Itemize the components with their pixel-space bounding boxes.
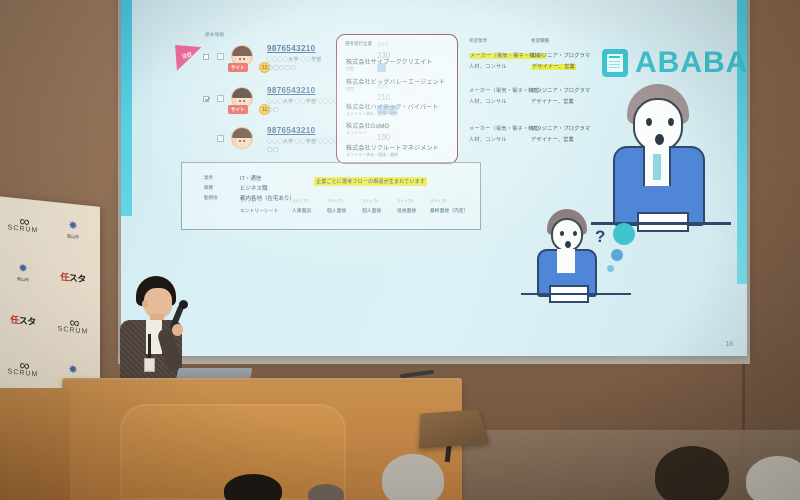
wall-right: [742, 0, 800, 470]
highlighted-company-box: 選考進行企業 株式会社サイブーククリエイト 内定 株式会社ビッグバレーエージェン…: [336, 34, 458, 164]
step-header: ステップ4: [362, 199, 378, 204]
role-line: エンジニア・プログラマ: [531, 52, 590, 59]
detail-label: 職種: [204, 185, 213, 191]
candidate-id[interactable]: 9876543210: [267, 126, 316, 135]
city-emblem-icon: ✸: [68, 218, 77, 232]
company-name: 株式会社ハイテック・バイパート: [346, 102, 439, 111]
audience-head: [224, 474, 282, 500]
id-badge: [144, 358, 155, 372]
question-mark-icon: ?: [595, 227, 605, 247]
company-status: エントリー済み・面接・最終: [346, 152, 398, 158]
thought-bubble-medium: [611, 249, 623, 261]
company-status: エントリー: [346, 130, 366, 136]
company-status: エントリー済み・面接・最終: [346, 111, 398, 117]
audience-head: [655, 446, 729, 500]
podium-side: [0, 388, 70, 500]
candidate-id[interactable]: 9876543210: [267, 86, 316, 95]
conference-room: になること 基本情報 サイト 12 9876543210 ◯◯◯◯大学 ◯◯学部…: [0, 0, 800, 500]
slide-edge-strip-left: [121, 0, 132, 216]
company-status: 内定: [346, 86, 354, 92]
scrum-label: SCRUM: [8, 368, 39, 378]
candidate-school: ◯◯◯大学 ◯◯学部 ◯◯◯◯: [267, 98, 339, 105]
projection-screen: になること 基本情報 サイト 12 9876543210 ◯◯◯◯大学 ◯◯学部…: [121, 0, 747, 356]
step-header: ステップ1: [240, 199, 256, 204]
logo-rings: ∞ SCRUM: [50, 304, 96, 347]
step-value: エントリーシート: [240, 207, 278, 214]
row-square-icon: [217, 95, 224, 102]
audience-head: [382, 454, 444, 500]
red-wordmark: 任スタ: [60, 269, 86, 285]
detail-label: 業界: [204, 175, 213, 181]
row-checkbox[interactable]: [203, 54, 209, 60]
scrum-label: SCRUM: [8, 224, 39, 234]
logo-city: ✸ 岡山市: [50, 208, 96, 251]
candidate-school: ◯◯◯◯大学 ◯◯学部: [267, 56, 322, 63]
step-value: 個人面接: [362, 207, 381, 214]
candidate-id[interactable]: 9876543210: [267, 44, 316, 53]
column-header-industry: 希望業界: [469, 38, 487, 44]
step-value: 人事面談: [292, 207, 311, 214]
role-line: デザイナー、営業: [531, 63, 576, 70]
slide-page-number: 18: [725, 341, 733, 348]
step-value: 最終面接（内定）: [430, 207, 468, 214]
detail-value: ビジネス職: [240, 184, 268, 192]
role-line: エンジニア・プログラマ: [531, 125, 590, 132]
red-wordmark: 任スタ: [10, 312, 36, 328]
row-square-icon: [217, 135, 224, 142]
city-label: 岡山市: [67, 233, 79, 240]
candidate-school-extra: ◯◯: [267, 107, 279, 113]
slide-title: になること: [446, 0, 656, 2]
company-name: 株式会社GoMO: [346, 121, 389, 130]
row-checkbox[interactable]: [203, 96, 209, 102]
status-badge: サイト: [228, 105, 248, 114]
step-header: ステップ5: [397, 199, 413, 204]
thought-bubble-small: [607, 265, 614, 272]
logo-rings: ∞ SCRUM: [0, 346, 46, 389]
detail-label: 勤務地: [204, 195, 218, 201]
city-label: 岡山市: [17, 276, 29, 283]
thought-bubble-large: [613, 223, 635, 245]
status-badge: サイト: [228, 63, 248, 72]
detail-value: IT・通信: [240, 174, 261, 182]
logo-city: ✸ 岡山市: [0, 250, 46, 293]
ababa-logo: ABABA: [602, 46, 747, 80]
illustration-person-thinking: ?: [521, 209, 631, 314]
logo-red: 任スタ: [50, 256, 96, 299]
row-square-icon: [217, 53, 224, 60]
step-value: 個人面接: [327, 207, 346, 214]
company-name: 株式会社ビッグバレーエージェント: [346, 77, 445, 86]
city-emblem-icon: ✸: [68, 362, 77, 376]
step-header: ステップ2: [292, 199, 308, 204]
logo-rings: ∞ SCRUM: [0, 202, 46, 245]
city-emblem-icon: ✸: [18, 261, 27, 275]
avatar: [231, 127, 253, 149]
step-value: 役員面接: [397, 207, 416, 214]
company-name: 株式会社サイブーククリエイト: [346, 57, 433, 66]
industry-line: 人材、コンサル: [469, 98, 507, 105]
scrum-label: SCRUM: [58, 325, 89, 335]
company-box-title: 選考進行企業: [345, 41, 372, 47]
step-header: ステップ3: [327, 199, 343, 204]
ababa-wordmark: ABABA: [635, 46, 747, 80]
logo-red: 任スタ: [0, 298, 46, 341]
column-header-role: 希望職種: [531, 38, 549, 44]
ababa-document-icon: [602, 49, 628, 77]
industry-line: 人材、コンサル: [469, 63, 507, 70]
lanyard: [148, 334, 151, 360]
role-line: エンジニア・プログラマ: [531, 87, 590, 94]
audience-head: [746, 456, 800, 500]
highlight-callout: 企業ごとに選考フローの相違が生まれています: [314, 177, 427, 186]
candidate-school: ◯◯◯大学 ◯◯学部 ◯◯◯◯: [267, 138, 339, 145]
slide-canvas: になること 基本情報 サイト 12 9876543210 ◯◯◯◯大学 ◯◯学部…: [121, 0, 747, 356]
role-line: デザイナー、営業: [531, 98, 574, 105]
role-line: デザイナー、営業: [531, 136, 574, 143]
stage-monitor: [419, 409, 489, 448]
list-section-label: 基本情報: [205, 32, 224, 38]
slide-edge-strip-right: [737, 0, 747, 284]
audience-head: [308, 484, 344, 500]
candidate-school-extra: ◯◯◯◯◯: [267, 65, 296, 71]
candidate-school-extra: ◯◯: [267, 147, 279, 153]
job-detail-box: 業界 IT・通信 職種 ビジネス職 勤務地 都内各地（在宅あり） 企業ごとに選考…: [181, 162, 481, 230]
industry-line: 人材、コンサル: [469, 136, 507, 143]
company-name: 株式会社リクルートマネジメント: [346, 143, 439, 152]
company-status: 内定: [346, 66, 354, 72]
step-header: ステップ6: [430, 199, 446, 204]
